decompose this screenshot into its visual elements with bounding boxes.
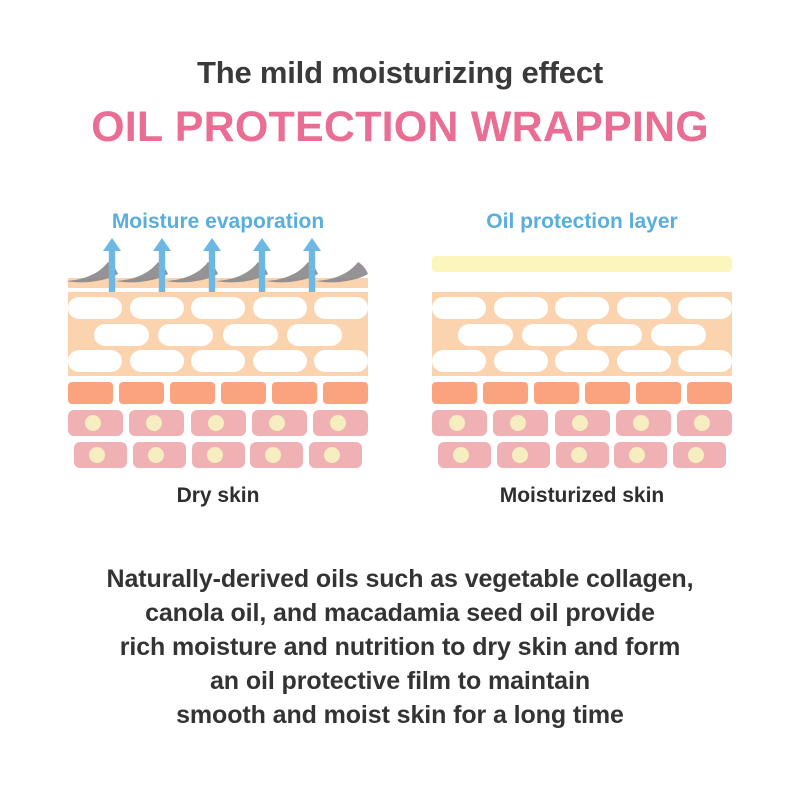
moisture-evaporation-arrow-icon — [253, 238, 271, 300]
epidermis-layer — [68, 292, 368, 376]
granular-cell — [119, 382, 164, 404]
basal-cell — [313, 410, 368, 436]
basal-cell-row — [432, 410, 732, 436]
cell-nucleus — [330, 415, 346, 431]
main-title-heading: OIL PROTECTION WRAPPING — [0, 104, 800, 151]
infographic-page: The mild moisturizing effect OIL PROTECT… — [0, 0, 800, 800]
corneocyte-cell — [555, 297, 609, 319]
skin-flake-icon — [314, 258, 370, 284]
body-line: rich moisture and nutrition to dry skin … — [0, 630, 800, 664]
basal-cell — [497, 442, 550, 468]
basal-cell — [493, 410, 548, 436]
corneocyte-cell — [94, 324, 149, 346]
cell-nucleus — [512, 447, 528, 463]
corneocyte-cell — [651, 324, 706, 346]
cell-nucleus — [89, 447, 105, 463]
moisture-evaporation-arrow-icon — [303, 238, 321, 300]
oil-protection-film — [432, 256, 732, 272]
basal-cell — [438, 442, 491, 468]
corneocyte-brick-row — [68, 297, 368, 319]
corneocyte-cell — [223, 324, 278, 346]
cell-nucleus — [324, 447, 340, 463]
corneocyte-cell — [191, 297, 245, 319]
basal-cell-row — [68, 410, 368, 436]
corneocyte-cell — [494, 297, 548, 319]
basal-cell — [68, 410, 123, 436]
basal-cell — [129, 410, 184, 436]
corneocyte-cell — [158, 324, 213, 346]
basal-cell — [252, 410, 307, 436]
cell-nucleus — [265, 447, 281, 463]
cell-nucleus — [694, 415, 710, 431]
skin-diagram-comparison: Moisture evaporation — [0, 210, 800, 510]
corneocyte-cell — [314, 297, 368, 319]
cell-nucleus — [148, 447, 164, 463]
cell-nucleus — [208, 415, 224, 431]
granular-cell — [585, 382, 630, 404]
corneocyte-cell — [130, 297, 184, 319]
corneocyte-cell — [555, 350, 609, 372]
diagram-captions: Dry skin Moisturized skin — [0, 483, 800, 513]
corneocyte-cell — [68, 350, 122, 372]
basal-cell — [133, 442, 186, 468]
moisturized-skin-panel: Oil protection layer — [432, 210, 732, 452]
corneocyte-brick-row — [432, 350, 732, 372]
cell-nucleus — [207, 447, 223, 463]
moisturized-skin-panel-label: Oil protection layer — [432, 210, 732, 238]
basal-cell-row — [68, 442, 368, 468]
corneocyte-cell — [253, 297, 307, 319]
cell-nucleus — [629, 447, 645, 463]
corneocyte-cell — [458, 324, 513, 346]
granular-cell — [483, 382, 528, 404]
basal-cell — [191, 410, 246, 436]
basal-cell — [616, 410, 671, 436]
corneocyte-cell — [432, 350, 486, 372]
granular-cell — [323, 382, 368, 404]
cell-nucleus — [688, 447, 704, 463]
body-line: Naturally-derived oils such as vegetable… — [0, 562, 800, 596]
basal-cell-row — [432, 442, 732, 468]
cell-nucleus — [269, 415, 285, 431]
corneocyte-brick-row — [432, 297, 732, 319]
body-paragraph: Naturally-derived oils such as vegetable… — [0, 562, 800, 732]
granular-cell — [432, 382, 477, 404]
moisturized-skin-surface-zone — [432, 252, 732, 296]
corneocyte-cell — [522, 324, 577, 346]
corneocyte-cell — [678, 297, 732, 319]
basal-cell — [555, 410, 610, 436]
body-line: smooth and moist skin for a long time — [0, 698, 800, 732]
basal-cell — [309, 442, 362, 468]
cell-nucleus — [146, 415, 162, 431]
basal-cell — [250, 442, 303, 468]
basal-cell — [614, 442, 667, 468]
corneocyte-cell — [587, 324, 642, 346]
basal-cell — [432, 410, 487, 436]
corneocyte-cell — [191, 350, 245, 372]
corneocyte-cell — [494, 350, 548, 372]
granular-cell — [687, 382, 732, 404]
corneocyte-cell — [432, 297, 486, 319]
corneocyte-cell — [287, 324, 342, 346]
body-line: canola oil, and macadamia seed oil provi… — [0, 596, 800, 630]
subtitle-heading: The mild moisturizing effect — [0, 56, 800, 90]
basal-cell — [677, 410, 732, 436]
corneocyte-cell — [130, 350, 184, 372]
cell-nucleus — [449, 415, 465, 431]
granular-cell — [68, 382, 113, 404]
cell-nucleus — [572, 415, 588, 431]
granular-cell — [170, 382, 215, 404]
corneocyte-cell — [253, 350, 307, 372]
corneocyte-cell — [68, 297, 122, 319]
dry-skin-panel: Moisture evaporation — [68, 210, 368, 452]
cell-nucleus — [85, 415, 101, 431]
epidermis-layer — [432, 292, 732, 376]
corneocyte-brick-row — [68, 324, 368, 346]
dry-skin-cross-section — [68, 252, 368, 452]
granular-cell — [272, 382, 317, 404]
moisture-evaporation-arrow-icon — [153, 238, 171, 300]
dry-skin-panel-label: Moisture evaporation — [68, 210, 368, 238]
dry-skin-surface-zone — [68, 252, 368, 296]
body-line: an oil protective film to maintain — [0, 664, 800, 698]
corneocyte-brick-row — [68, 350, 368, 372]
moisture-evaporation-arrow-icon — [203, 238, 221, 300]
granular-layer-row — [68, 382, 368, 404]
cell-nucleus — [571, 447, 587, 463]
cell-nucleus — [453, 447, 469, 463]
caption-dry-skin: Dry skin — [68, 483, 368, 508]
cell-nucleus — [510, 415, 526, 431]
granular-cell — [534, 382, 579, 404]
corneocyte-brick-row — [432, 324, 732, 346]
cell-nucleus — [633, 415, 649, 431]
granular-cell — [221, 382, 266, 404]
basal-cell — [673, 442, 726, 468]
moisture-evaporation-arrow-icon — [103, 238, 121, 300]
corneocyte-cell — [617, 350, 671, 372]
corneocyte-cell — [678, 350, 732, 372]
granular-cell — [636, 382, 681, 404]
moisturized-skin-cross-section — [432, 252, 732, 452]
granular-layer-row — [432, 382, 732, 404]
caption-moisturized-skin: Moisturized skin — [432, 483, 732, 508]
heading-block: The mild moisturizing effect OIL PROTECT… — [0, 56, 800, 151]
basal-cell — [74, 442, 127, 468]
corneocyte-cell — [314, 350, 368, 372]
corneocyte-cell — [617, 297, 671, 319]
basal-cell — [192, 442, 245, 468]
basal-cell — [556, 442, 609, 468]
